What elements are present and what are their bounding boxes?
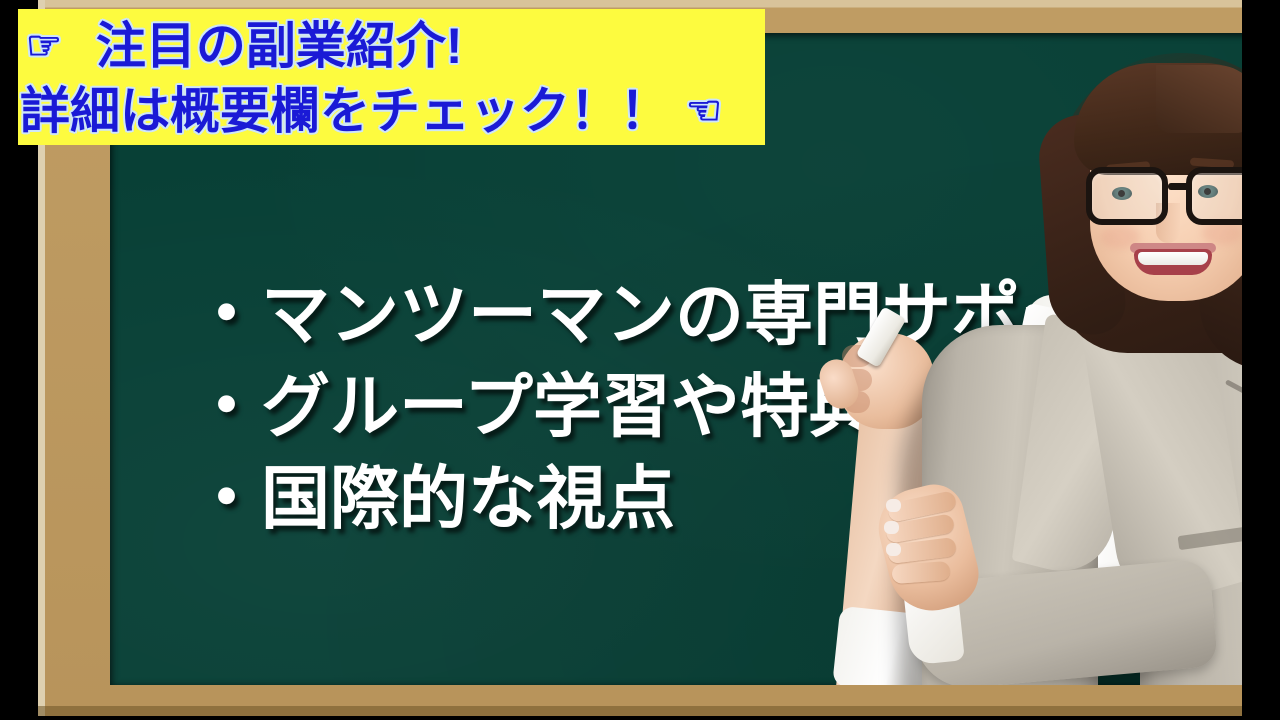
- crossed-sleeve: [910, 558, 1218, 685]
- hand-pointing-right-icon: ☞: [26, 26, 62, 66]
- board-bullet-3: ・国際的な視点: [192, 453, 1158, 545]
- hair-part: [1156, 65, 1242, 133]
- eyebrow: [1190, 157, 1234, 168]
- upper-lip: [1130, 243, 1216, 253]
- eye: [1112, 187, 1132, 200]
- hand-pointing-left-icon: ☜: [686, 91, 722, 131]
- eyeglass-lens-left: [1086, 167, 1168, 225]
- chest-pocket: [1178, 522, 1242, 550]
- hair-right: [1195, 99, 1242, 373]
- banner-line-1: ☞ 注目の副業紹介!: [26, 21, 463, 71]
- cheek: [1100, 225, 1140, 249]
- headline-banner: ☞ 注目の副業紹介! 詳細は概要欄をチェック！！ ☜: [18, 9, 765, 145]
- eyeglass-lens-right: [1186, 167, 1242, 225]
- teeth: [1138, 252, 1208, 265]
- board-bullet-2: ・グループ学習や特典あり: [192, 361, 1158, 453]
- eyeglass-bridge: [1168, 183, 1192, 190]
- shirt-cuff: [832, 606, 944, 685]
- nose: [1156, 203, 1180, 243]
- pupil: [1118, 190, 1125, 197]
- eye: [1198, 185, 1218, 198]
- fingernail: [886, 543, 901, 556]
- cheek: [1202, 221, 1242, 245]
- eyeglasses-icon: [1080, 167, 1242, 229]
- board-bullet-list: ・マンツーマンの専門サポート ・グループ学習や特典あり ・国際的な視点: [192, 269, 1158, 544]
- eyebrow: [1106, 161, 1151, 173]
- banner-line-2: 詳細は概要欄をチェック！！ ☜: [20, 86, 722, 136]
- banner-line-2-text: 詳細は概要欄をチェック！！: [20, 86, 670, 136]
- pupil: [1204, 188, 1211, 195]
- video-stage: ・マンツーマンの専門サポート ・グループ学習や特典あり ・国際的な視点 ☞ 注目…: [0, 0, 1280, 720]
- crossed-shirt-cuff: [901, 564, 965, 665]
- hair-front: [1074, 63, 1242, 175]
- finger: [891, 561, 950, 584]
- board-bullet-1: ・マンツーマンの専門サポート: [192, 269, 1158, 361]
- banner-line-1-text: 注目の副業紹介!: [96, 21, 463, 71]
- lapel-notch: [1225, 379, 1242, 399]
